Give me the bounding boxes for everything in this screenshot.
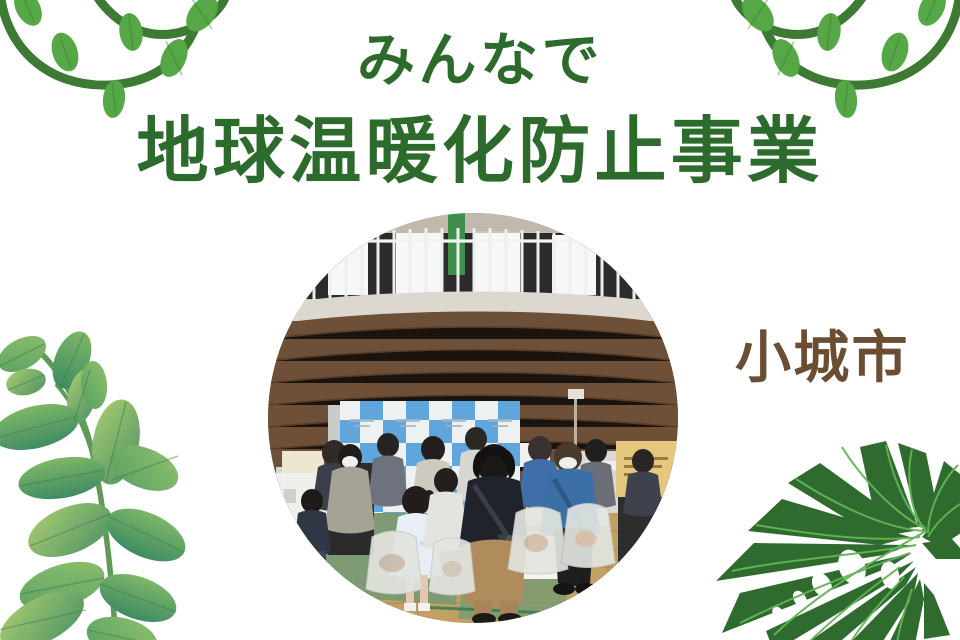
monstera-leaf-icon [700,427,960,640]
event-photo [268,213,678,623]
page-title-line-2: 地球温暖化防止事業 [0,116,960,188]
poster-canvas: みんなで 地球温暖化防止事業 小城市 [0,0,960,640]
page-title-line-1: みんなで [0,32,960,90]
watercolor-branch-icon [0,330,244,640]
city-name-label: 小城市 [735,330,910,386]
